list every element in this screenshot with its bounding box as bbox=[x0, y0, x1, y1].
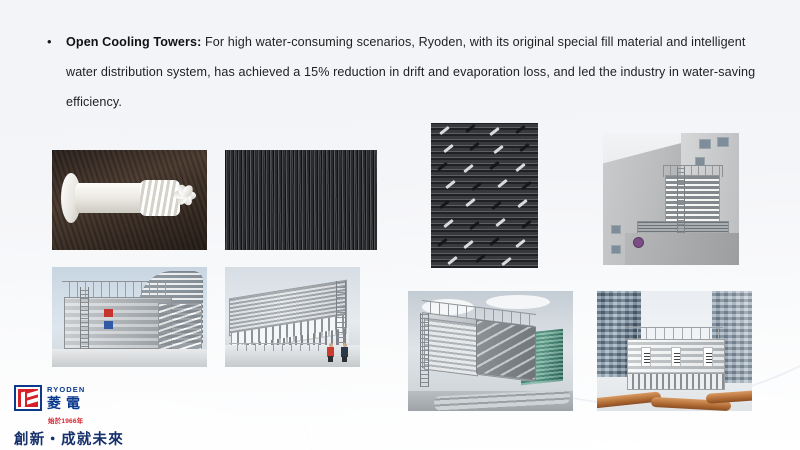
tower-louvre-panel bbox=[424, 318, 478, 377]
nozzle-splash-plate bbox=[174, 181, 202, 211]
slide-canvas: • Open Cooling Towers: For high water-co… bbox=[0, 0, 800, 450]
worker-figure bbox=[341, 343, 348, 361]
wall-sign bbox=[633, 237, 644, 248]
roof-parapet bbox=[52, 349, 207, 367]
ryoden-mark-icon bbox=[14, 385, 42, 411]
orange-pipe bbox=[706, 390, 752, 404]
company-logo-block: RYODEN 菱電 始於1966年 創新・成就未來 bbox=[14, 385, 194, 449]
tower-access-panel bbox=[641, 347, 651, 367]
photo-towers-residential bbox=[52, 267, 207, 367]
tower-structural-frame bbox=[158, 303, 202, 351]
bullet-marker: • bbox=[44, 27, 66, 57]
photo-eliminator bbox=[431, 123, 538, 268]
building-window bbox=[717, 137, 729, 147]
photo-rooftop-tower bbox=[603, 133, 739, 265]
tower-access-panel bbox=[703, 347, 713, 367]
worker-figure bbox=[327, 343, 334, 361]
logo-lockup: RYODEN 菱電 bbox=[14, 385, 194, 411]
tower-access-ladder bbox=[677, 167, 685, 237]
building-window bbox=[699, 139, 711, 149]
bullet-item: • Open Cooling Towers: For high water-co… bbox=[44, 27, 758, 117]
logo-chinese-name: 菱電 bbox=[47, 396, 85, 410]
fill-highlight-texture bbox=[225, 150, 377, 250]
tower-louvre-texture bbox=[666, 176, 719, 226]
nozzle-body-shape bbox=[75, 183, 145, 213]
logo-tagline: 創新・成就未來 bbox=[14, 428, 194, 449]
photo-fill-dark bbox=[225, 150, 377, 250]
deck-handrail bbox=[229, 343, 325, 351]
photo-tower-green bbox=[408, 291, 573, 411]
logo-wordmark: RYODEN 菱電 bbox=[47, 386, 85, 410]
tower-air-inlet-louvre bbox=[627, 373, 725, 390]
tower-access-ladder bbox=[420, 313, 429, 387]
tower-blue-label bbox=[104, 321, 113, 329]
tower-access-panel bbox=[671, 347, 681, 367]
bullet-paragraph-block: • Open Cooling Towers: For high water-co… bbox=[44, 27, 758, 117]
logo-english-name: RYODEN bbox=[47, 386, 85, 394]
bullet-body-text: Open Cooling Towers: For high water-cons… bbox=[66, 27, 758, 117]
logo-since-text: 始於1966年 bbox=[48, 415, 194, 425]
photo-nozzle bbox=[52, 150, 207, 250]
tower-red-label bbox=[104, 309, 113, 317]
building-window bbox=[611, 225, 621, 234]
tower-access-ladder bbox=[80, 287, 89, 355]
cloud-shape bbox=[486, 295, 550, 309]
building-window bbox=[611, 245, 621, 254]
tower-structural-frame bbox=[476, 319, 536, 380]
bullet-lead-label: Open Cooling Towers: bbox=[66, 35, 201, 49]
photo-tower-bank bbox=[225, 267, 360, 367]
cooling-tower-casing bbox=[665, 175, 720, 227]
photo-tower-skyscraper bbox=[597, 291, 752, 411]
eliminator-vane-marks bbox=[431, 123, 538, 268]
